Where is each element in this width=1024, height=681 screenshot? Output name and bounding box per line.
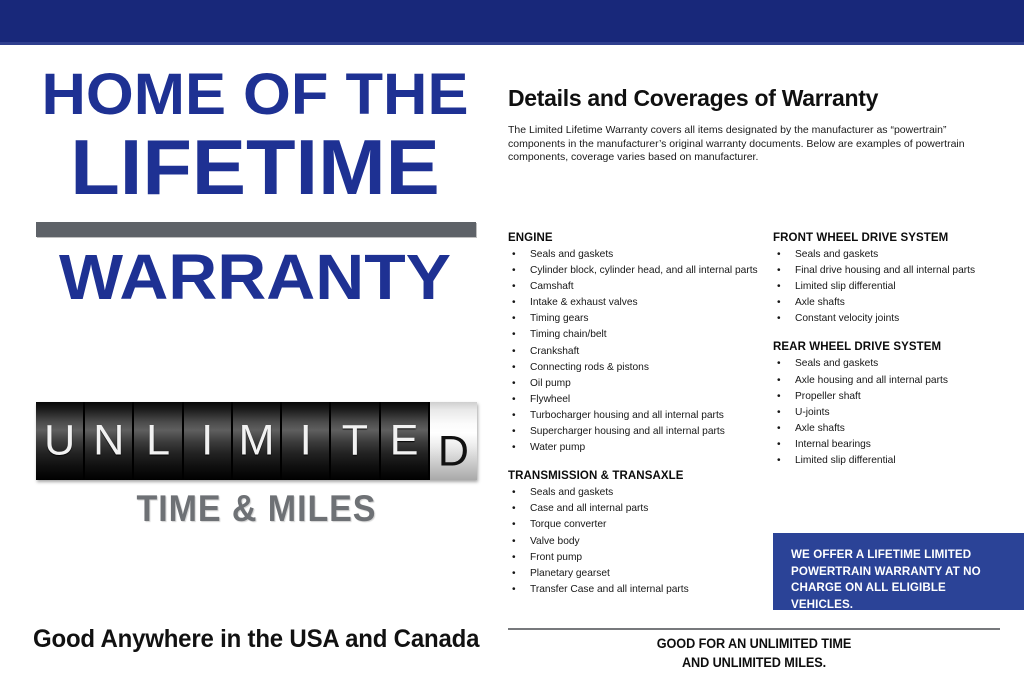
bullet-icon: •: [777, 279, 781, 295]
list-item: •Timing gears: [508, 311, 760, 327]
odometer-char: L: [134, 420, 181, 463]
list-item: •Transfer Case and all internal parts: [508, 582, 760, 598]
list-item: •U-joints: [773, 405, 1023, 421]
list-item-label: Torque converter: [530, 519, 606, 530]
bullet-icon: •: [777, 263, 781, 279]
logo-line-lifetime: LIFETIME: [21, 128, 489, 206]
list-item-label: Supercharger housing and all internal pa…: [530, 426, 725, 437]
bullet-icon: •: [512, 408, 516, 424]
list-item-label: Final drive housing and all internal par…: [795, 265, 975, 276]
list-item-label: Limited slip differential: [795, 281, 896, 292]
odometer-char: E: [381, 420, 428, 463]
list-item: •Water pump: [508, 440, 760, 456]
list-item-label: Water pump: [530, 442, 585, 453]
bullet-icon: •: [512, 550, 516, 566]
callout-box: WE OFFER A LIFETIME LIMITED POWERTRAIN W…: [773, 533, 1024, 610]
odometer-char: T: [331, 420, 378, 463]
coverage-column-right: FRONT WHEEL DRIVE SYSTEM•Seals and gaske…: [773, 232, 1023, 469]
list-item-label: Planetary gearset: [530, 568, 610, 579]
odometer-graphic: U N L I M I T E D: [36, 402, 477, 480]
bullet-icon: •: [777, 311, 781, 327]
list-item-label: Seals and gaskets: [530, 249, 613, 260]
footer-right-text: GOOD FOR AN UNLIMITED TIME AND UNLIMITED…: [523, 634, 985, 672]
odometer-cell: N: [85, 402, 134, 480]
coverage-item-list: •Seals and gaskets•Final drive housing a…: [773, 247, 1023, 327]
bullet-icon: •: [512, 311, 516, 327]
page-title: Details and Coverages of Warranty: [508, 85, 878, 112]
bullet-icon: •: [777, 405, 781, 421]
bullet-icon: •: [512, 279, 516, 295]
odometer-char: U: [36, 420, 83, 463]
list-item: •Seals and gaskets: [508, 485, 760, 501]
top-blue-band: [0, 0, 1024, 42]
list-item: •Torque converter: [508, 517, 760, 533]
list-item-label: Cylinder block, cylinder head, and all i…: [530, 265, 758, 276]
bullet-icon: •: [777, 247, 781, 263]
coverage-section-title: REAR WHEEL DRIVE SYSTEM: [773, 341, 1023, 353]
bullet-icon: •: [512, 376, 516, 392]
bullet-icon: •: [777, 437, 781, 453]
list-item: •Valve body: [508, 534, 760, 550]
coverage-section-title: FRONT WHEEL DRIVE SYSTEM: [773, 232, 1023, 244]
list-item: •Camshaft: [508, 279, 760, 295]
bullet-icon: •: [512, 263, 516, 279]
coverage-item-list: •Seals and gaskets•Cylinder block, cylin…: [508, 247, 760, 456]
logo-panel: HOME OF THE LIFETIME WARRANTY U N L I M …: [0, 45, 500, 681]
bullet-icon: •: [777, 295, 781, 311]
odometer-char: I: [282, 420, 329, 463]
odometer-cell: I: [282, 402, 331, 480]
coverage-section-title: TRANSMISSION & TRANSAXLE: [508, 470, 760, 482]
bullet-icon: •: [512, 392, 516, 408]
bullet-icon: •: [512, 424, 516, 440]
list-item: •Seals and gaskets: [508, 247, 760, 263]
odometer-char: N: [85, 420, 132, 463]
list-item: •Flywheel: [508, 392, 760, 408]
list-item: •Axle shafts: [773, 421, 1023, 437]
list-item: •Intake & exhaust valves: [508, 295, 760, 311]
bullet-icon: •: [777, 421, 781, 437]
coverage-section: REAR WHEEL DRIVE SYSTEM•Seals and gasket…: [773, 341, 1023, 469]
odometer-subtitle: TIME & MILES: [54, 488, 460, 530]
odometer-cell: L: [134, 402, 183, 480]
list-item: •Limited slip differential: [773, 279, 1023, 295]
list-item: •Seals and gaskets: [773, 247, 1023, 263]
bullet-icon: •: [512, 517, 516, 533]
list-item: •Timing chain/belt: [508, 327, 760, 343]
list-item: •Limited slip differential: [773, 453, 1023, 469]
list-item: •Turbocharger housing and all internal p…: [508, 408, 760, 424]
bullet-icon: •: [512, 440, 516, 456]
bullet-icon: •: [777, 356, 781, 372]
list-item-label: Internal bearings: [795, 439, 871, 450]
odometer-char: M: [233, 420, 280, 463]
list-item-label: Axle shafts: [795, 423, 845, 434]
list-item: •Crankshaft: [508, 344, 760, 360]
list-item-label: Flywheel: [530, 394, 570, 405]
footer-right-line-2: AND UNLIMITED MILES.: [523, 653, 985, 672]
coverage-item-list: •Seals and gaskets•Case and all internal…: [508, 485, 760, 598]
list-item-label: Limited slip differential: [795, 455, 896, 466]
coverage-column-left: ENGINE•Seals and gaskets•Cylinder block,…: [508, 232, 760, 598]
coverage-section-title: ENGINE: [508, 232, 760, 244]
list-item-label: Crankshaft: [530, 346, 579, 357]
logo-line-home-of-the: HOME OF THE: [17, 66, 494, 124]
list-item: •Oil pump: [508, 376, 760, 392]
odometer-cell: E: [381, 402, 430, 480]
list-item: •Supercharger housing and all internal p…: [508, 424, 760, 440]
list-item-label: Case and all internal parts: [530, 503, 648, 514]
list-item-label: Front pump: [530, 552, 582, 563]
list-item: •Axle shafts: [773, 295, 1023, 311]
list-item: •Connecting rods & pistons: [508, 360, 760, 376]
bullet-icon: •: [512, 485, 516, 501]
list-item-label: Seals and gaskets: [795, 358, 878, 369]
bullet-icon: •: [512, 566, 516, 582]
bullet-icon: •: [512, 327, 516, 343]
odometer-char: D: [430, 430, 477, 473]
bullet-icon: •: [512, 534, 516, 550]
list-item: •Planetary gearset: [508, 566, 760, 582]
odometer-cell: T: [331, 402, 380, 480]
logo-gray-divider-bar: [36, 222, 476, 237]
bullet-icon: •: [777, 373, 781, 389]
bullet-icon: •: [512, 582, 516, 598]
list-item: •Cylinder block, cylinder head, and all …: [508, 263, 760, 279]
bullet-icon: •: [512, 501, 516, 517]
coverage-section: FRONT WHEEL DRIVE SYSTEM•Seals and gaske…: [773, 232, 1023, 327]
intro-paragraph: The Limited Lifetime Warranty covers all…: [508, 124, 1000, 165]
list-item-label: Turbocharger housing and all internal pa…: [530, 410, 724, 421]
list-item: •Front pump: [508, 550, 760, 566]
bullet-icon: •: [512, 247, 516, 263]
list-item: •Constant velocity joints: [773, 311, 1023, 327]
list-item: •Propeller shaft: [773, 389, 1023, 405]
list-item-label: Constant velocity joints: [795, 313, 899, 324]
list-item-label: Axle shafts: [795, 297, 845, 308]
list-item-label: Oil pump: [530, 378, 571, 389]
odometer-cell: M: [233, 402, 282, 480]
list-item-label: Intake & exhaust valves: [530, 297, 638, 308]
coverage-section: TRANSMISSION & TRANSAXLE•Seals and gaske…: [508, 470, 760, 598]
list-item-label: Seals and gaskets: [795, 249, 878, 260]
list-item-label: Propeller shaft: [795, 391, 861, 402]
callout-text: WE OFFER A LIFETIME LIMITED POWERTRAIN W…: [791, 547, 1011, 613]
list-item-label: Camshaft: [530, 281, 574, 292]
bullet-icon: •: [777, 389, 781, 405]
logo-line-warranty: WARRANTY: [17, 245, 494, 309]
tagline-good-anywhere: Good Anywhere in the USA and Canada: [33, 625, 479, 654]
list-item-label: Transfer Case and all internal parts: [530, 584, 689, 595]
list-item: •Final drive housing and all internal pa…: [773, 263, 1023, 279]
list-item-label: Seals and gaskets: [530, 487, 613, 498]
footer-right-line-1: GOOD FOR AN UNLIMITED TIME: [523, 634, 985, 653]
bullet-icon: •: [512, 344, 516, 360]
odometer-char: I: [184, 420, 231, 463]
odometer-cell-rolling: D: [430, 402, 477, 480]
details-panel: Details and Coverages of Warranty The Li…: [500, 45, 1024, 681]
list-item-label: Axle housing and all internal parts: [795, 375, 948, 386]
bullet-icon: •: [512, 360, 516, 376]
list-item-label: Timing chain/belt: [530, 329, 607, 340]
list-item-label: Timing gears: [530, 313, 589, 324]
footer-divider-rule: [508, 628, 1000, 630]
list-item: •Seals and gaskets: [773, 356, 1023, 372]
coverage-item-list: •Seals and gaskets•Axle housing and all …: [773, 356, 1023, 469]
odometer-cell: U: [36, 402, 85, 480]
list-item-label: U-joints: [795, 407, 830, 418]
list-item-label: Connecting rods & pistons: [530, 362, 649, 373]
list-item-label: Valve body: [530, 536, 580, 547]
bullet-icon: •: [512, 295, 516, 311]
list-item: •Axle housing and all internal parts: [773, 373, 1023, 389]
odometer-cell: I: [184, 402, 233, 480]
list-item: •Case and all internal parts: [508, 501, 760, 517]
coverage-section: ENGINE•Seals and gaskets•Cylinder block,…: [508, 232, 760, 456]
bullet-icon: •: [777, 453, 781, 469]
list-item: •Internal bearings: [773, 437, 1023, 453]
